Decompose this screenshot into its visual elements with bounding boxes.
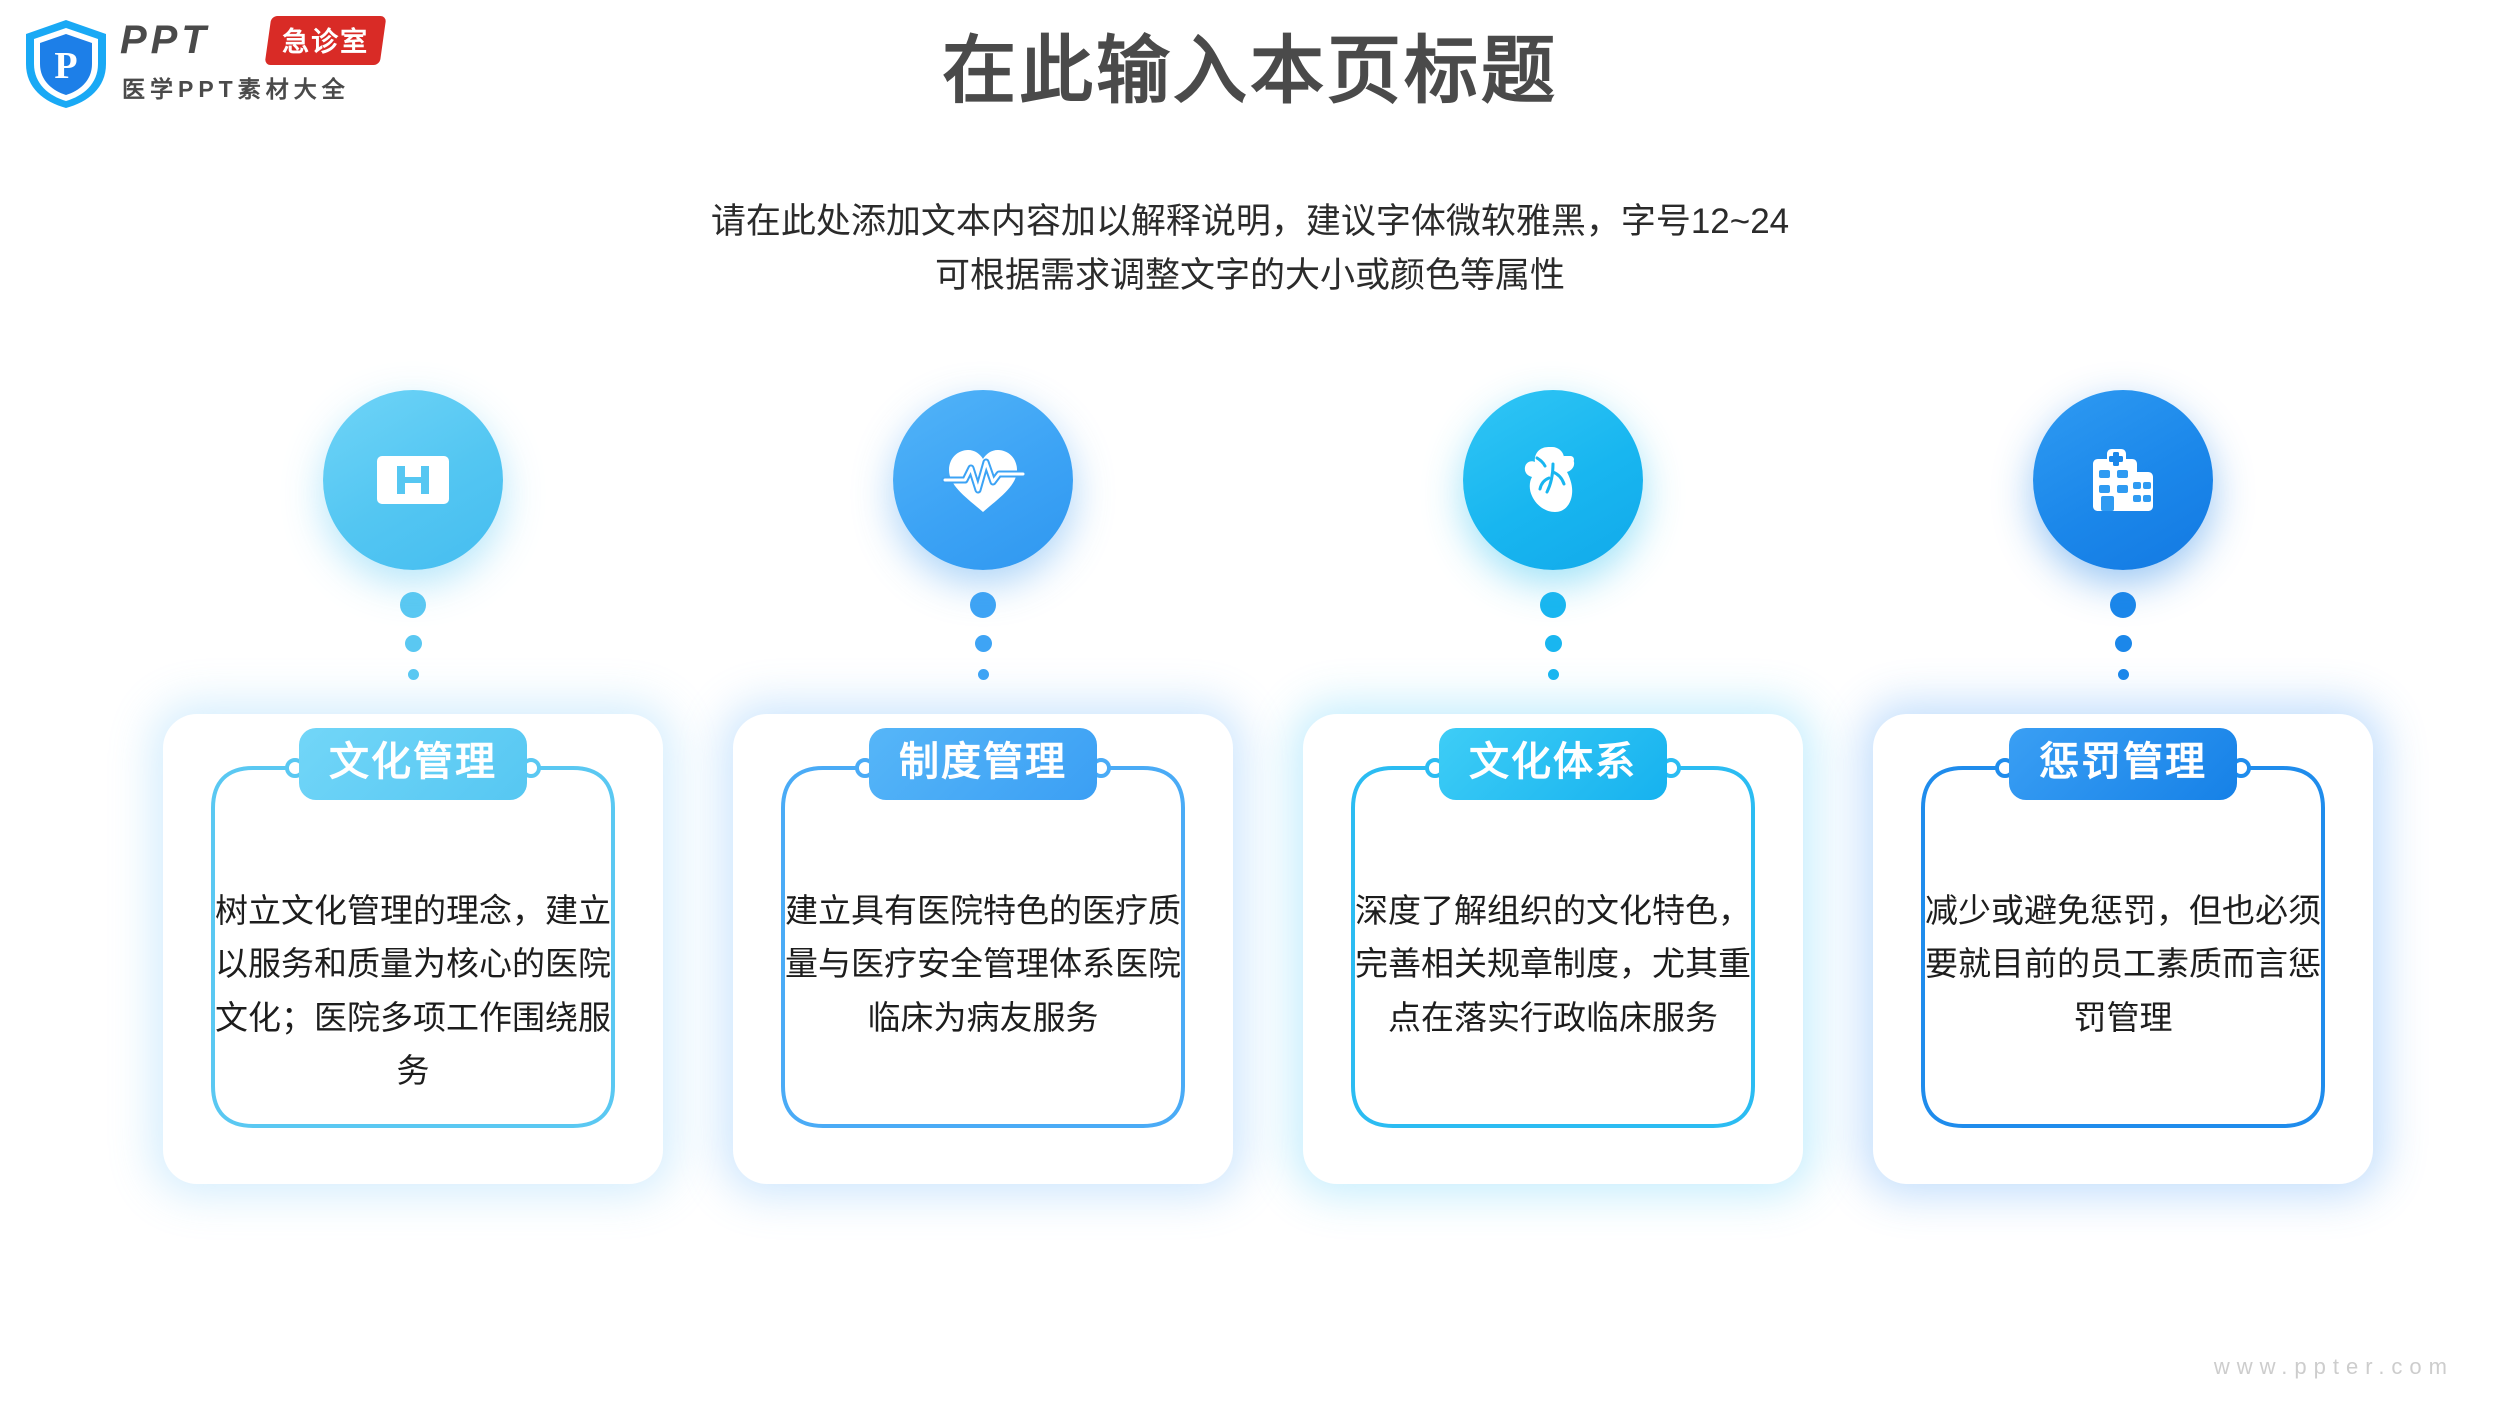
column-3: 文化体系 深度了解组织的文化特色，完善相关规章制度，尤其重点在落实行政临床服务 (1293, 390, 1813, 1184)
connector-dot-small (408, 669, 419, 680)
connector-dots-2 (963, 592, 1003, 680)
card-body-2: 建立具有医院特色的医疗质量与医疗安全管理体系医院临床为病友服务 (785, 884, 1181, 1044)
page-subtitle-line-1: 请在此处添加文本内容加以解释说明，建议字体微软雅黑，字号12~24 (0, 195, 2500, 249)
connector-dot-small (978, 669, 989, 680)
page-subtitle: 请在此处添加文本内容加以解释说明，建议字体微软雅黑，字号12~24 可根据需求调… (0, 195, 2500, 304)
connector-dot-large (970, 592, 996, 618)
card-body-4: 减少或避免惩罚，但也必须要就目前的员工素质而言惩罚管理 (1925, 884, 2321, 1044)
page-subtitle-line-2: 可根据需求调整文字的大小或颜色等属性 (0, 249, 2500, 303)
card-body-1: 树立文化管理的理念，建立以服务和质量为核心的医院文化；医院多项工作围绕服务 (215, 884, 611, 1098)
column-2: 制度管理 建立具有医院特色的医疗质量与医疗安全管理体系医院临床为病友服务 (723, 390, 1243, 1184)
connector-dots-3 (1533, 592, 1573, 680)
connector-dot-large (400, 592, 426, 618)
card-badge-3: 文化体系 (1439, 728, 1667, 800)
info-card-2[interactable]: 制度管理 建立具有医院特色的医疗质量与医疗安全管理体系医院临床为病友服务 (733, 714, 1233, 1184)
hospital-building-icon (2077, 434, 2169, 526)
icon-bubble-4[interactable] (2033, 390, 2213, 570)
info-card-3[interactable]: 文化体系 深度了解组织的文化特色，完善相关规章制度，尤其重点在落实行政临床服务 (1303, 714, 1803, 1184)
connector-dot-large (1540, 592, 1566, 618)
page-title: 在此输入本页标题 (0, 34, 2500, 108)
connector-dot-medium (2115, 635, 2132, 652)
column-4: 惩罚管理 减少或避免惩罚，但也必须要就目前的员工素质而言惩罚管理 (1863, 390, 2383, 1184)
card-body-3: 深度了解组织的文化特色，完善相关规章制度，尤其重点在落实行政临床服务 (1355, 884, 1751, 1044)
info-card-4[interactable]: 惩罚管理 减少或避免惩罚，但也必须要就目前的员工素质而言惩罚管理 (1873, 714, 2373, 1184)
column-1: 文化管理 树立文化管理的理念，建立以服务和质量为核心的医院文化；医院多项工作围绕… (153, 390, 673, 1184)
heartbeat-icon (937, 434, 1029, 526)
card-badge-1: 文化管理 (299, 728, 527, 800)
icon-bubble-3[interactable] (1463, 390, 1643, 570)
connector-dots-1 (393, 592, 433, 680)
anatomical-heart-icon (1507, 434, 1599, 526)
card-badge-4: 惩罚管理 (2009, 728, 2237, 800)
connector-dots-4 (2103, 592, 2143, 680)
info-card-1[interactable]: 文化管理 树立文化管理的理念，建立以服务和质量为核心的医院文化；医院多项工作围绕… (163, 714, 663, 1184)
hospital-sign-icon (367, 434, 459, 526)
icon-bubble-1[interactable] (323, 390, 503, 570)
card-badge-2: 制度管理 (869, 728, 1097, 800)
connector-dot-small (2118, 669, 2129, 680)
icon-bubble-2[interactable] (893, 390, 1073, 570)
footer-website: www.ppter.com (2214, 1354, 2454, 1380)
connector-dot-small (1548, 669, 1559, 680)
connector-dot-large (2110, 592, 2136, 618)
connector-dot-medium (1545, 635, 1562, 652)
connector-dot-medium (405, 635, 422, 652)
connector-dot-medium (975, 635, 992, 652)
slide-canvas: P PPT 急诊室 医学PPT素材大全 在此输入本页标题 请在此处添加文本内容加… (0, 0, 2500, 1406)
